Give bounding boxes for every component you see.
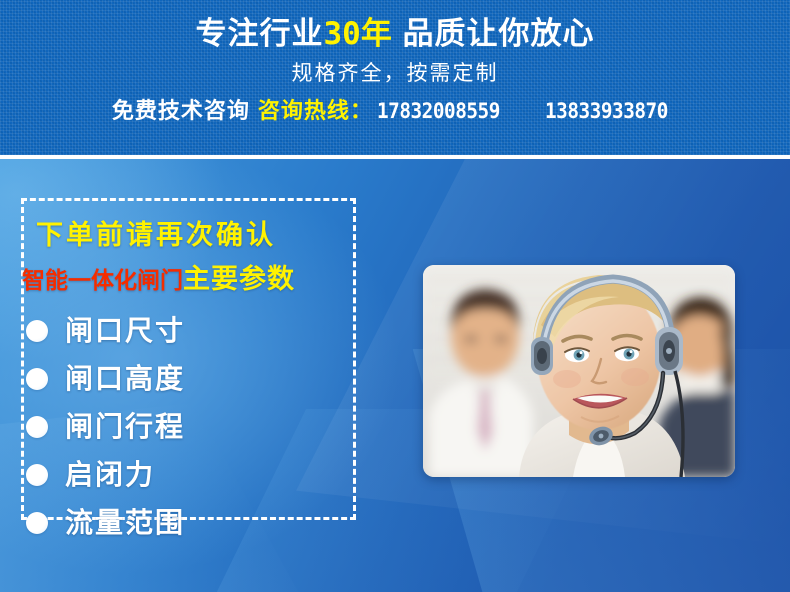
header-subline: 规格齐全，按需定制 [292,61,499,87]
free-consult-label: 免费技术咨询 [112,97,250,125]
list-item: 闸门行程 [26,403,326,451]
list-item: 闸口尺寸 [26,307,326,355]
spec-product-name: 智能一体化闸门 [22,267,183,293]
list-item: 启闭力 [26,451,326,499]
bullet-dot-icon [26,512,48,534]
header-headline: 专注行业30年 品质让你放心 [196,15,595,53]
hotline-phone-primary[interactable]: 17832008559 [377,97,500,125]
headline-suffix: 品质让你放心 [402,16,594,51]
headline-years-number: 30 [324,16,361,52]
hotline-label: 咨询热线： [258,97,373,125]
list-item: 流量范围 [26,499,326,547]
list-item: 闸口高度 [26,355,326,403]
banner-header: 专注行业30年 品质让你放心 规格齐全，按需定制 免费技术咨询 咨询热线： 17… [0,0,790,155]
headline-years-unit: 年 [361,16,393,51]
customer-service-photo [423,265,735,477]
bullet-dot-icon [26,464,48,486]
bullet-dot-icon [26,368,48,390]
spec-item-label: 流量范围 [65,506,185,540]
spec-subtitle: 智能一体化闸门主要参数 [22,262,295,301]
spec-params-label: 主要参数 [183,264,295,294]
headline-prefix: 专注行业 [196,16,324,51]
banner-body: 下单前请再次确认 智能一体化闸门主要参数 闸口尺寸 闸口高度 闸门行程 启闭力 [0,159,790,592]
hotline-phone-secondary[interactable]: 13833933870 [545,97,668,125]
header-contact-line: 免费技术咨询 咨询热线： 17832008559 13833933870 [112,97,678,125]
promo-banner: 专注行业30年 品质让你放心 规格齐全，按需定制 免费技术咨询 咨询热线： 17… [0,0,790,592]
spec-parameter-list: 闸口尺寸 闸口高度 闸门行程 启闭力 流量范围 [26,307,326,547]
spec-item-label: 闸口高度 [65,362,185,396]
bullet-dot-icon [26,416,48,438]
bullet-dot-icon [26,320,48,342]
spec-item-label: 闸门行程 [65,410,185,444]
customer-service-photo-illustration [423,265,735,477]
spec-title: 下单前请再次确认 [36,218,276,252]
spec-item-label: 闸口尺寸 [65,314,185,348]
spec-item-label: 启闭力 [65,458,155,492]
